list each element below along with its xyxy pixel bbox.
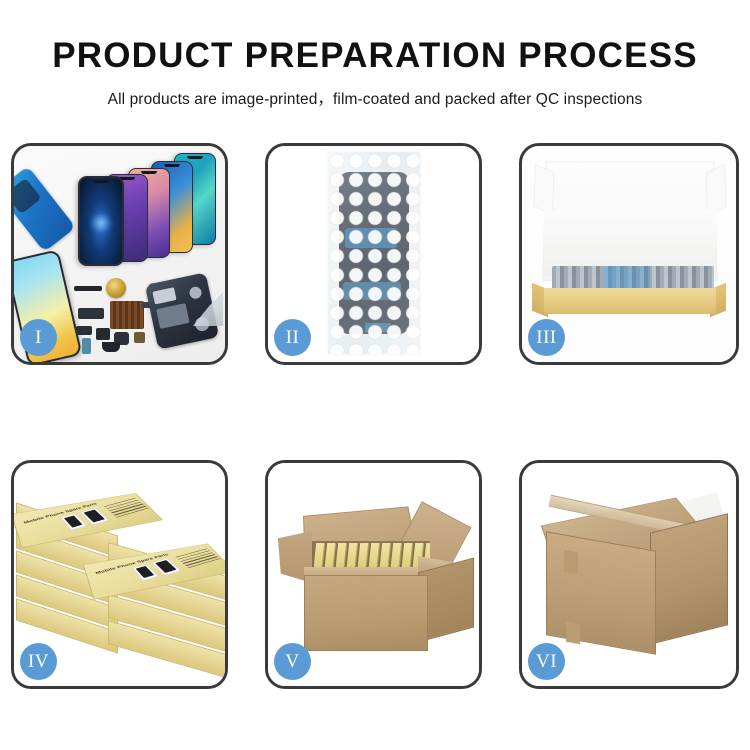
notch-icon bbox=[141, 171, 157, 174]
step-badge-5: V bbox=[274, 643, 311, 680]
step-badge-6: VI bbox=[528, 643, 565, 680]
part-icon bbox=[134, 332, 145, 343]
box-spec-lines-icon bbox=[176, 548, 226, 572]
page-title: PRODUCT PREPARATION PROCESS bbox=[0, 36, 750, 76]
header: PRODUCT PREPARATION PROCESS All products… bbox=[0, 0, 750, 109]
process-steps-grid: I II bbox=[11, 143, 739, 689]
notch-icon bbox=[164, 164, 180, 167]
step-badge-3: III bbox=[528, 319, 565, 356]
part-icon bbox=[102, 342, 120, 352]
part-icon bbox=[76, 326, 92, 335]
step-badge-1: I bbox=[20, 319, 57, 356]
process-step-3: III bbox=[519, 143, 739, 365]
part-icon bbox=[82, 338, 91, 354]
phone-screen-protector-icon bbox=[78, 176, 124, 266]
step-badge-4: IV bbox=[20, 643, 57, 680]
product-preparation-infographic: PRODUCT PREPARATION PROCESS All products… bbox=[0, 0, 750, 750]
process-step-1: I bbox=[11, 143, 228, 365]
bubble-texture-icon bbox=[328, 152, 420, 354]
part-icon bbox=[96, 328, 110, 340]
box-spec-lines-icon bbox=[104, 498, 155, 522]
carton-front-panel-icon bbox=[546, 531, 656, 654]
process-step-5: V bbox=[265, 460, 482, 689]
process-step-2: II bbox=[265, 143, 482, 365]
box-front-panel-icon bbox=[544, 288, 716, 314]
page-subtitle: All products are image-printed，film-coat… bbox=[0, 87, 750, 109]
part-icon bbox=[78, 308, 104, 319]
step-badge-2: II bbox=[274, 319, 311, 356]
process-step-6: VI bbox=[519, 460, 739, 689]
carton-front-panel-icon bbox=[304, 575, 428, 651]
carton-handle-tab-icon bbox=[564, 550, 578, 574]
copper-coil-part-icon bbox=[106, 278, 126, 298]
carton-handle-tab-icon bbox=[566, 622, 580, 644]
part-icon bbox=[74, 286, 102, 291]
phone-fan-group bbox=[66, 152, 226, 262]
carton-side-panel-icon bbox=[650, 513, 728, 644]
notch-icon bbox=[93, 180, 109, 183]
chip-array-part-icon bbox=[110, 301, 144, 329]
bubble-wrap-bag-icon bbox=[328, 152, 420, 354]
notch-icon bbox=[187, 156, 203, 159]
process-step-4: Mobile Phone Spare Parts Mobile Phone Sp… bbox=[11, 460, 228, 689]
